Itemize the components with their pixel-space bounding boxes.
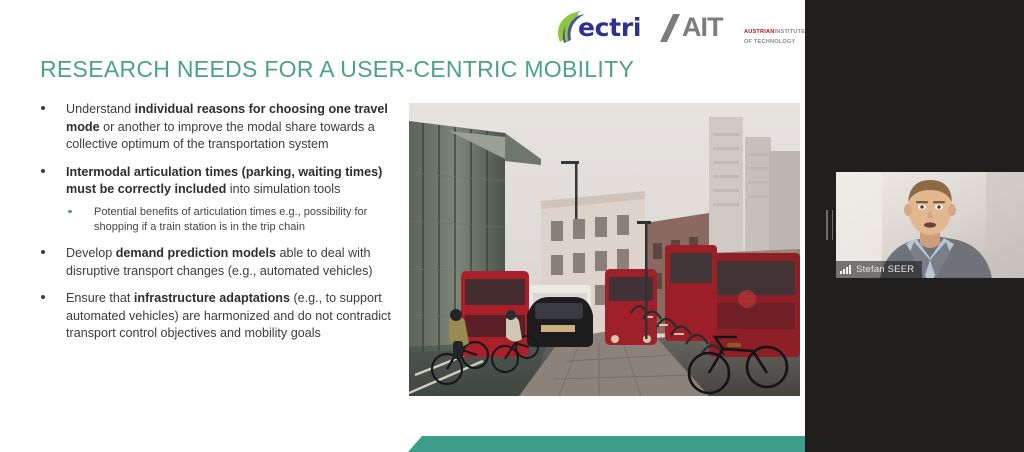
ait-tagline-rest: INSTITUTE [775,29,805,35]
sub-bullet-text: Potential benefits of articulation times… [94,205,396,235]
logo-bar: ectri AIT AUSTRIANINSTITUTE OF TECHNOLOG… [552,4,802,50]
ait-tagline-line2: OF TECHNOLOGY [744,39,795,45]
city-street-photo [409,103,800,396]
bullet-item: Develop demand prediction models able to… [36,245,396,280]
bullet-item: Intermodal articulation times (parking, … [36,164,396,235]
bullet-text: Develop demand prediction models able to… [66,245,396,280]
bullet-marker [41,106,45,110]
ectri-wordmark: ectri [578,13,641,42]
video-tile-drag-handle[interactable] [826,210,833,240]
signal-bars-icon [840,265,851,274]
ait-wordmark: AIT [682,12,723,43]
bullet-item: Understand individual reasons for choosi… [36,101,396,154]
bullet-marker [41,295,45,299]
sub-bullet-marker [68,210,72,214]
app-window: ectri AIT AUSTRIANINSTITUTE OF TECHNOLOG… [0,0,1024,452]
participant-name-label: Stefan SEER [856,264,914,275]
bullet-text: Intermodal articulation times (parking, … [66,164,396,199]
participant-video-tile[interactable]: Stefan SEER [836,172,1024,278]
bullet-item: Ensure that infrastructure adaptations (… [36,290,396,343]
bullet-marker [41,250,45,254]
slide-title: RESEARCH NEEDS FOR A USER-CENTRIC MOBILI… [40,56,634,83]
footer-accent-bar [408,436,805,452]
bullet-list: Understand individual reasons for choosi… [36,101,396,353]
presentation-slide: ectri AIT AUSTRIANINSTITUTE OF TECHNOLOG… [0,0,805,452]
bullet-text: Ensure that infrastructure adaptations (… [66,290,396,343]
bullet-marker [41,169,45,173]
sub-bullet-item: Potential benefits of articulation times… [66,205,396,235]
ait-tagline-highlight: AUSTRIAN [744,29,775,35]
ait-logo: AIT AUSTRIANINSTITUTE OF TECHNOLOGY [658,10,802,46]
participant-name-tag: Stefan SEER [836,261,922,278]
ait-triangle-icon [660,14,680,44]
ait-tagline: AUSTRIANINSTITUTE OF TECHNOLOGY [744,26,805,45]
bullet-text: Understand individual reasons for choosi… [66,101,396,154]
city-street-illustration [409,103,800,396]
ectri-logo: ectri [552,8,652,48]
